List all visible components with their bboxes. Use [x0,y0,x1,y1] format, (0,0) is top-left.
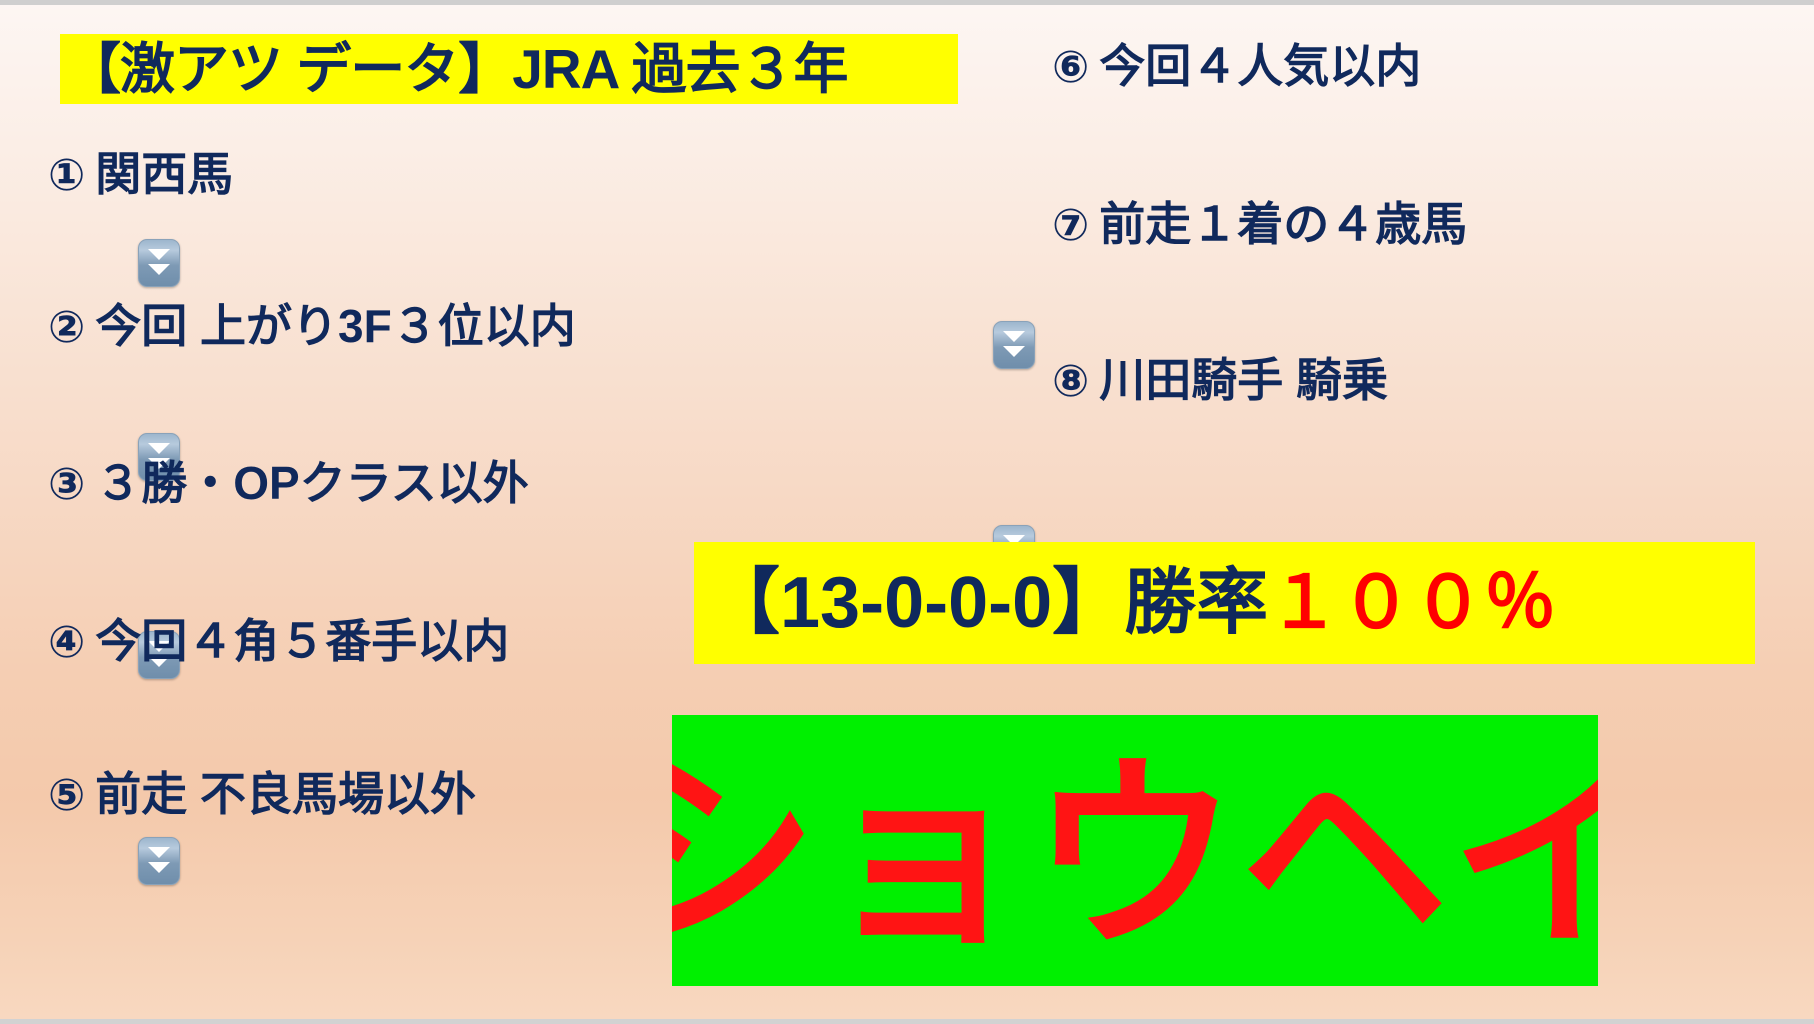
condition-number-3: ③ [48,460,85,509]
condition-number-2: ② [48,303,85,352]
condition-item-2: ②今回 上がり3F３位以内 [48,303,576,350]
result-record: 【13-0-0-0】 [708,563,1124,643]
condition-item-1: ①関西馬 [48,151,233,198]
title-banner: 【激アツ データ】JRA 過去３年 [60,34,958,104]
slide-canvas: 【激アツ データ】JRA 過去３年 ①関西馬 ②今回 上がり3F３位以内 ③３勝… [0,0,1814,1024]
condition-label-8: 川田騎手 騎乗 [1099,354,1388,406]
horse-name: ショウヘイ [672,753,1598,961]
condition-number-1: ① [48,151,85,200]
condition-item-6: ⑥今回４人気以内 [1052,43,1421,90]
condition-number-4: ④ [48,618,85,667]
condition-label-6: 今回４人気以内 [1099,40,1421,92]
horse-name-box: ショウヘイ [672,715,1598,986]
page-title: 【激アツ データ】JRA 過去３年 [60,42,848,97]
down-arrow-icon-4 [138,837,180,885]
condition-item-4: ④今回４角５番手以内 [48,618,509,665]
down-arrow-icon-1 [138,239,180,287]
down-arrow-icon-6 [993,321,1035,369]
result-label: 勝率 [1124,563,1268,643]
condition-label-3: ３勝・OPクラス以外 [95,457,529,509]
result-percent: １００％ [1268,563,1556,643]
condition-item-5: ⑤前走 不良馬場以外 [48,771,476,818]
condition-label-2: 今回 上がり3F３位以内 [95,300,575,352]
condition-label-7: 前走１着の４歳馬 [1099,198,1467,250]
condition-item-7: ⑦前走１着の４歳馬 [1052,201,1467,248]
condition-number-8: ⑧ [1052,357,1089,406]
condition-number-6: ⑥ [1052,43,1089,92]
condition-label-5: 前走 不良馬場以外 [95,768,476,820]
condition-item-3: ③３勝・OPクラス以外 [48,460,529,507]
condition-number-7: ⑦ [1052,201,1089,250]
condition-item-8: ⑧川田騎手 騎乗 [1052,357,1388,404]
result-text: 【13-0-0-0】勝率１００％ [694,567,1556,639]
condition-label-4: 今回４角５番手以内 [95,615,509,667]
result-banner: 【13-0-0-0】勝率１００％ [694,542,1755,664]
condition-label-1: 関西馬 [95,148,233,200]
condition-number-5: ⑤ [48,771,85,820]
